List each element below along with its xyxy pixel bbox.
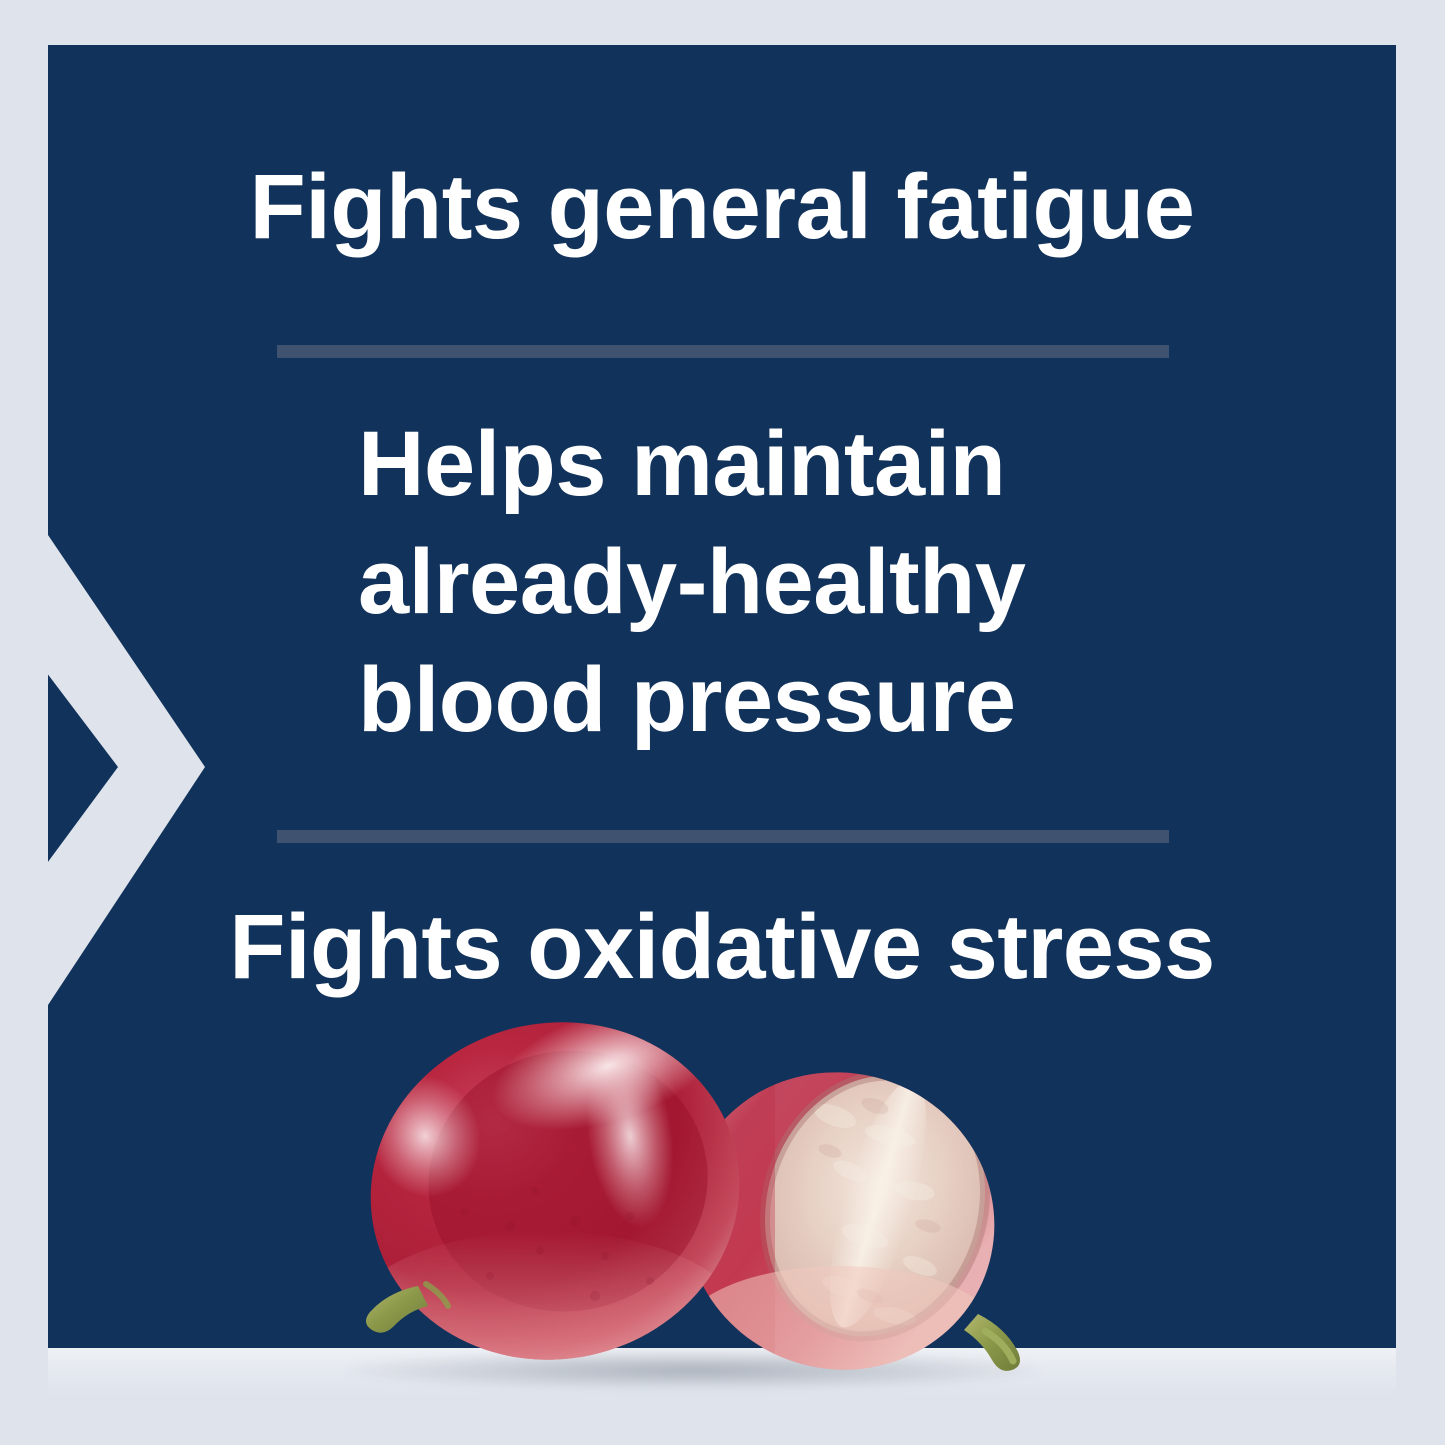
benefits-panel: Fights general fatigue Helps maintain al… [48,45,1396,1396]
grape-photo [330,996,1050,1396]
benefit-item-1: Fights general fatigue [48,155,1396,259]
grape-whole [339,996,771,1396]
benefit-card: Fights general fatigue Helps maintain al… [0,0,1445,1445]
product-photo-area [48,966,1396,1396]
benefit-2-line-1: Helps maintain [358,405,1396,523]
benefit-1-label: Fights general fatigue [250,156,1195,258]
benefit-2-line-2: already-healthy [358,523,1396,641]
benefit-item-2: Helps maintain already-healthy blood pre… [48,405,1396,759]
benefit-divider-2 [277,830,1169,843]
benefit-divider-1 [277,345,1169,358]
benefit-2-line-3: blood pressure [358,641,1396,759]
